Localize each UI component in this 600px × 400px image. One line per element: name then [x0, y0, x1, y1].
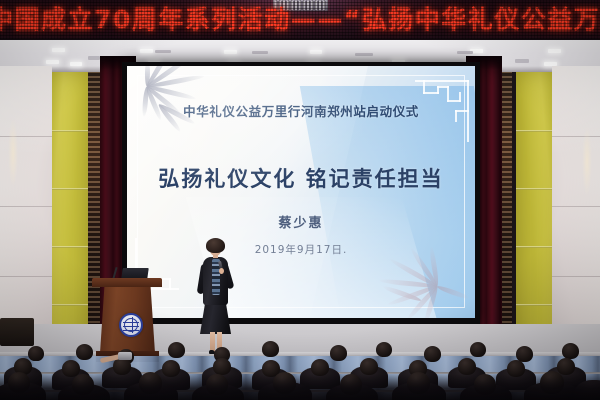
- ceiling-vent: [355, 53, 373, 56]
- ceiling-light: [224, 50, 237, 54]
- camera-device: [118, 352, 132, 360]
- ceiling-light: [140, 49, 153, 53]
- audience-head: [424, 346, 441, 362]
- slide-date: 2019年9月17日.: [127, 242, 475, 257]
- ceiling-vent: [252, 51, 268, 54]
- ceiling-light: [52, 48, 65, 52]
- audience-head: [213, 358, 231, 375]
- audience-head: [376, 342, 392, 357]
- ceiling-vent: [155, 50, 171, 53]
- presenter-skirt: [200, 300, 231, 334]
- audience-head: [262, 341, 279, 357]
- audience-head: [562, 343, 579, 359]
- audience-head: [76, 344, 93, 360]
- audience-area: [0, 330, 600, 400]
- audience-head: [360, 358, 378, 375]
- projection-screen: 中华礼仪公益万里行河南郑州站启动仪式 弘扬礼仪文化 铭记责任担当 蔡少惠 201…: [122, 62, 480, 324]
- slide-title: 中华礼仪公益万里行河南郑州站启动仪式: [127, 101, 475, 120]
- conference-hall-scene: 中国成立70周年系列活动——“弘扬中华礼仪公益万里: [0, 0, 600, 400]
- presenter-hand: [219, 268, 224, 274]
- ceiling-light: [310, 50, 322, 54]
- accent-panel-right: [516, 72, 552, 356]
- presentation-slide: 中华礼仪公益万里行河南郑州站启动仪式 弘扬礼仪文化 铭记责任担当 蔡少惠 201…: [127, 66, 475, 318]
- audience-head: [557, 358, 575, 375]
- podium-top: [92, 278, 162, 287]
- ceiling-vent: [515, 59, 529, 63]
- ceiling-vent: [88, 56, 100, 60]
- right-wall: [552, 66, 600, 366]
- slide-speaker-name: 蔡少惠: [127, 212, 475, 231]
- presenter-hair: [206, 238, 225, 253]
- audience-head: [470, 342, 486, 357]
- ceiling-light: [70, 62, 82, 66]
- slide-headline: 弘扬礼仪文化 铭记责任担当: [127, 163, 475, 193]
- audience-head: [458, 358, 476, 375]
- ceiling-light: [46, 60, 59, 64]
- audience-head: [330, 345, 347, 361]
- front-row-mass: [0, 374, 600, 400]
- ceiling-vent: [457, 51, 473, 54]
- audience-head: [168, 342, 185, 358]
- ceiling-light: [548, 49, 561, 53]
- led-banner-text: 中国成立70周年系列活动——“弘扬中华礼仪公益万里: [0, 6, 600, 34]
- audience-head: [28, 346, 44, 361]
- accent-panel-left: [52, 72, 88, 356]
- led-banner: 中国成立70周年系列活动——“弘扬中华礼仪公益万里: [0, 0, 600, 40]
